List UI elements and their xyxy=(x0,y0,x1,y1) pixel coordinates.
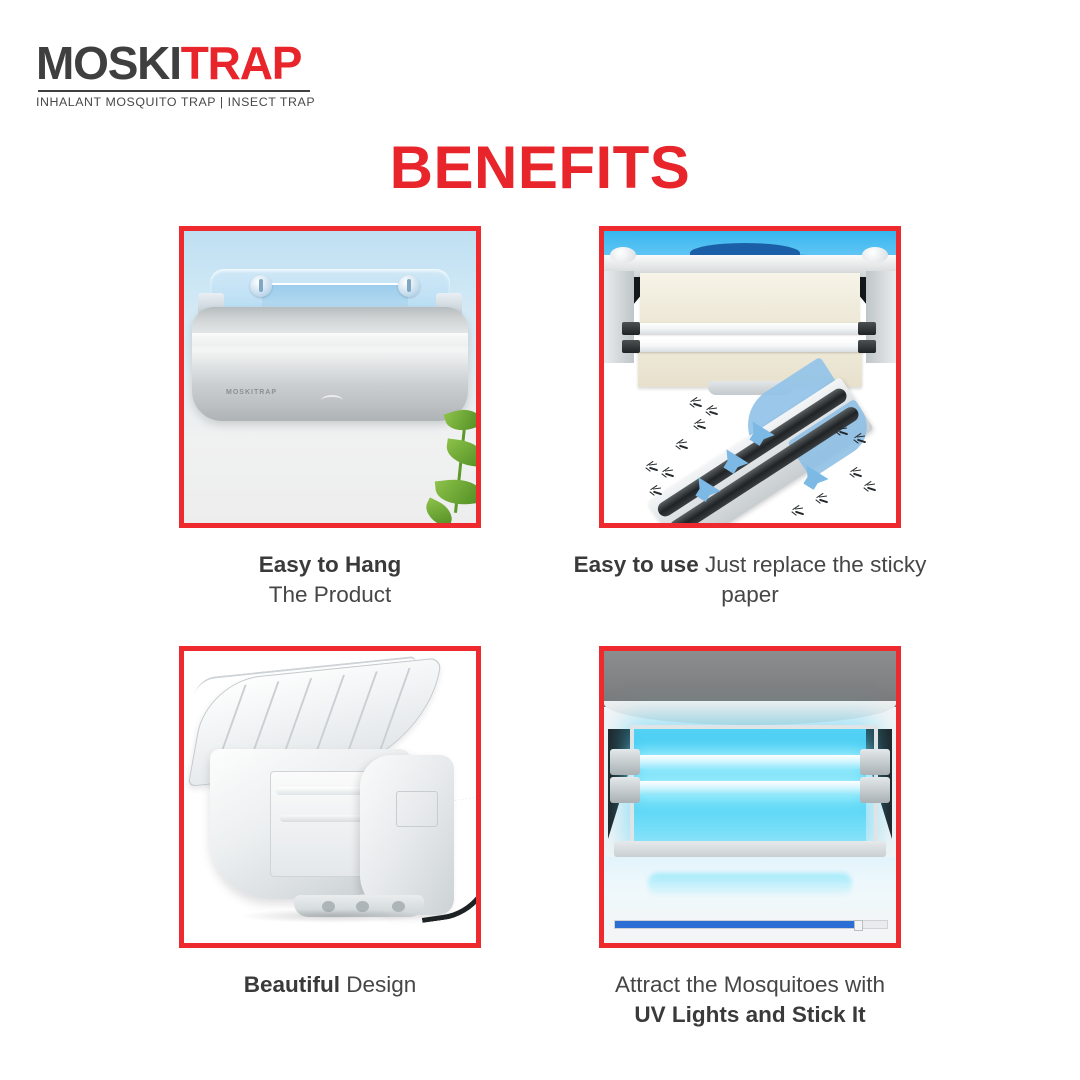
tube-end-cap xyxy=(858,322,876,335)
logo-wordmark: MOSKITRAP xyxy=(36,40,366,86)
product-brand-engraving: MOSKITRAP xyxy=(226,389,277,396)
product-photo-uv-tubes xyxy=(604,651,896,943)
product-photo-sticky-paper-and-airflow xyxy=(604,231,896,523)
benefit-image-frame-beautiful-design xyxy=(179,646,481,948)
logo-divider-rule xyxy=(38,90,310,92)
internal-lamp-upper xyxy=(276,787,370,795)
mosquito-icon xyxy=(862,483,877,496)
benefit-caption-easy-to-use: Easy to use Just replace the sticky pape… xyxy=(540,550,960,610)
mosquito-icon xyxy=(814,495,829,508)
uv-tube-end-cap xyxy=(860,777,890,803)
mosquito-icon xyxy=(692,421,707,434)
housing-base-ledge xyxy=(614,841,886,857)
mosquito-icon xyxy=(660,469,675,482)
metallic-front-cover: MOSKITRAP xyxy=(192,307,468,421)
caption-bold-text: Easy to Hang xyxy=(259,552,402,577)
uv-tube-reflection xyxy=(648,873,852,895)
mosquito-icon xyxy=(648,487,663,500)
housing-top-panel xyxy=(604,651,896,707)
benefits-grid: MOSKITRAP Easy to Hang The Product xyxy=(0,226,1080,1056)
uv-tube-lower xyxy=(634,781,866,795)
cover-release-notch xyxy=(321,395,343,406)
mosquito-icon xyxy=(790,507,805,520)
tube-end-cap xyxy=(622,340,640,353)
uv-tube-end-cap xyxy=(860,749,890,775)
benefit-item-easy-to-use: Easy to use Just replace the sticky pape… xyxy=(540,226,960,610)
caption-regular-text: Attract the Mosquitoes with xyxy=(615,972,885,997)
mounting-screw-right-icon xyxy=(398,275,420,297)
uv-tube-end-cap xyxy=(610,749,640,775)
drop-shadow xyxy=(238,909,428,923)
mosquito-icon xyxy=(848,469,863,482)
benefit-item-uv-lights: Attract the Mosquitoes with UV Lights an… xyxy=(540,646,960,1030)
logo-wordmark-moski: MOSKI xyxy=(36,37,181,89)
tube-end-cap xyxy=(622,322,640,335)
product-photo-wall-mounted-unit: MOSKITRAP xyxy=(184,231,476,523)
benefit-item-easy-to-hang: MOSKITRAP Easy to Hang The Product xyxy=(120,226,540,610)
lid-rib xyxy=(313,675,344,759)
fluorescent-tube-lower xyxy=(632,341,868,352)
uv-tube-upper xyxy=(634,755,866,769)
lid-rib xyxy=(346,671,377,755)
caption-regular-text: The Product xyxy=(269,582,392,607)
product-photo-open-device xyxy=(184,651,476,943)
mosquito-icon xyxy=(644,463,659,476)
benefit-image-frame-easy-to-use xyxy=(599,226,901,528)
fluorescent-tube-upper xyxy=(632,323,868,334)
benefit-caption-easy-to-hang: Easy to Hang The Product xyxy=(120,550,540,610)
benefit-image-frame-easy-to-hang: MOSKITRAP xyxy=(179,226,481,528)
benefit-caption-uv-lights: Attract the Mosquitoes with UV Lights an… xyxy=(540,970,960,1030)
uv-tube-end-cap xyxy=(610,777,640,803)
caption-bold-text: Easy to use xyxy=(574,552,699,577)
benefit-image-frame-uv-lights xyxy=(599,646,901,948)
mosquito-icon xyxy=(674,441,689,454)
mosquito-icon xyxy=(834,427,849,440)
page-title: BENEFITS xyxy=(0,133,1080,202)
caption-bold-text: UV Lights and Stick It xyxy=(634,1002,865,1027)
internal-lamp-lower xyxy=(280,815,364,822)
mounting-knob-right-icon xyxy=(862,247,888,263)
mounting-screw-left-icon xyxy=(250,275,272,297)
caption-regular-text: Design xyxy=(346,972,416,997)
caption-bold-text: Beautiful xyxy=(244,972,340,997)
mosquito-icon xyxy=(688,399,703,412)
mosquito-icon xyxy=(852,435,867,448)
logo-tagline: INHALANT MOSQUITO TRAP | INSECT TRAP xyxy=(36,95,366,109)
sticky-paper-upper xyxy=(640,273,860,325)
progress-bar-fill xyxy=(615,921,854,928)
benefit-caption-beautiful-design: Beautiful Design xyxy=(120,970,540,1000)
caption-regular-text: Just replace the sticky paper xyxy=(705,552,926,607)
mounting-knob-left-icon xyxy=(610,247,636,263)
benefit-item-beautiful-design: Beautiful Design xyxy=(120,646,540,1000)
brand-logo: MOSKITRAP INHALANT MOSQUITO TRAP | INSEC… xyxy=(36,40,366,109)
mosquito-icon xyxy=(704,407,719,420)
progress-bar-handle[interactable] xyxy=(854,920,863,931)
tube-end-cap xyxy=(858,340,876,353)
progress-bar-track xyxy=(614,920,888,929)
logo-wordmark-trap: TRAP xyxy=(181,37,301,89)
